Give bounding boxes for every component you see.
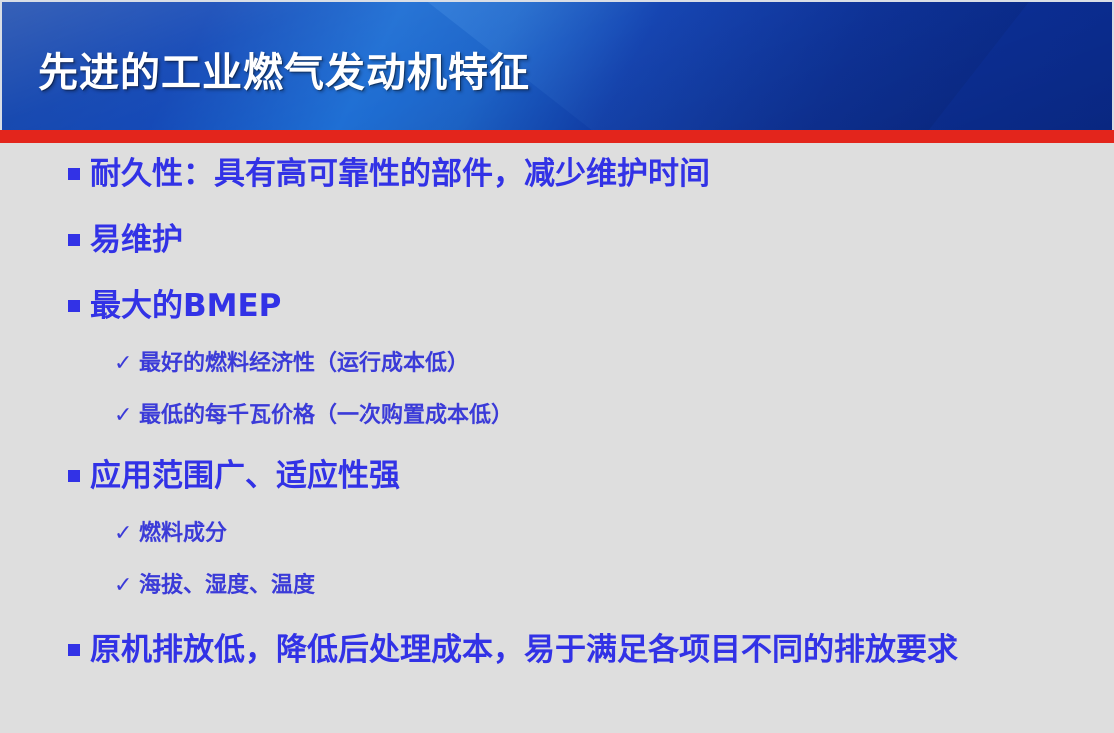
list-item: 易维护 (0, 218, 1114, 262)
list-item-label: 耐久性：具有高可靠性的部件，减少维护时间 (90, 152, 710, 196)
spacer (0, 384, 1114, 398)
slide: 先进的工业燃气发动机特征 耐久性：具有高可靠性的部件，减少维护时间 易维护 最大… (0, 0, 1114, 733)
spacer (0, 436, 1114, 454)
square-bullet-icon (68, 284, 90, 328)
sub-list-item-label: 最低的每千瓦价格（一次购置成本低） (139, 398, 513, 434)
spacer (0, 200, 1114, 218)
check-bullet-icon: ✓ (114, 398, 139, 434)
spacer (0, 554, 1114, 568)
list-item-label: 易维护 (90, 218, 183, 262)
sub-list-item-label: 最好的燃料经济性（运行成本低） (139, 346, 469, 382)
header-accent-bar (0, 130, 1114, 143)
check-bullet-icon: ✓ (114, 516, 139, 552)
check-bullet-icon: ✓ (114, 346, 139, 382)
sub-list-item: ✓ 燃料成分 (0, 516, 1114, 552)
spacer (0, 502, 1114, 516)
sub-list-item: ✓ 海拔、湿度、温度 (0, 568, 1114, 604)
sub-list-item-label: 燃料成分 (139, 516, 227, 552)
check-bullet-icon: ✓ (114, 568, 139, 604)
slide-header-banner: 先进的工业燃气发动机特征 (0, 0, 1114, 143)
page-title: 先进的工业燃气发动机特征 (38, 40, 530, 98)
spacer (0, 332, 1114, 346)
sub-list-item: ✓ 最好的燃料经济性（运行成本低） (0, 346, 1114, 382)
slide-body: 耐久性：具有高可靠性的部件，减少维护时间 易维护 最大的BMEP ✓ 最好的燃料… (0, 152, 1114, 676)
list-item: 应用范围广、适应性强 (0, 454, 1114, 498)
square-bullet-icon (68, 454, 90, 498)
list-item: 最大的BMEP (0, 284, 1114, 328)
list-item-label: 应用范围广、适应性强 (90, 454, 400, 498)
list-item-label: 最大的BMEP (90, 284, 281, 328)
sub-list-item: ✓ 最低的每千瓦价格（一次购置成本低） (0, 398, 1114, 434)
square-bullet-icon (68, 152, 90, 196)
sub-list-item-label: 海拔、湿度、温度 (139, 568, 315, 604)
list-item: 原机排放低，降低后处理成本，易于满足各项目不同的排放要求 (0, 628, 1114, 672)
list-item: 耐久性：具有高可靠性的部件，减少维护时间 (0, 152, 1114, 196)
spacer (0, 606, 1114, 628)
square-bullet-icon (68, 628, 90, 672)
square-bullet-icon (68, 218, 90, 262)
list-item-label: 原机排放低，降低后处理成本，易于满足各项目不同的排放要求 (90, 628, 958, 672)
spacer (0, 266, 1114, 284)
